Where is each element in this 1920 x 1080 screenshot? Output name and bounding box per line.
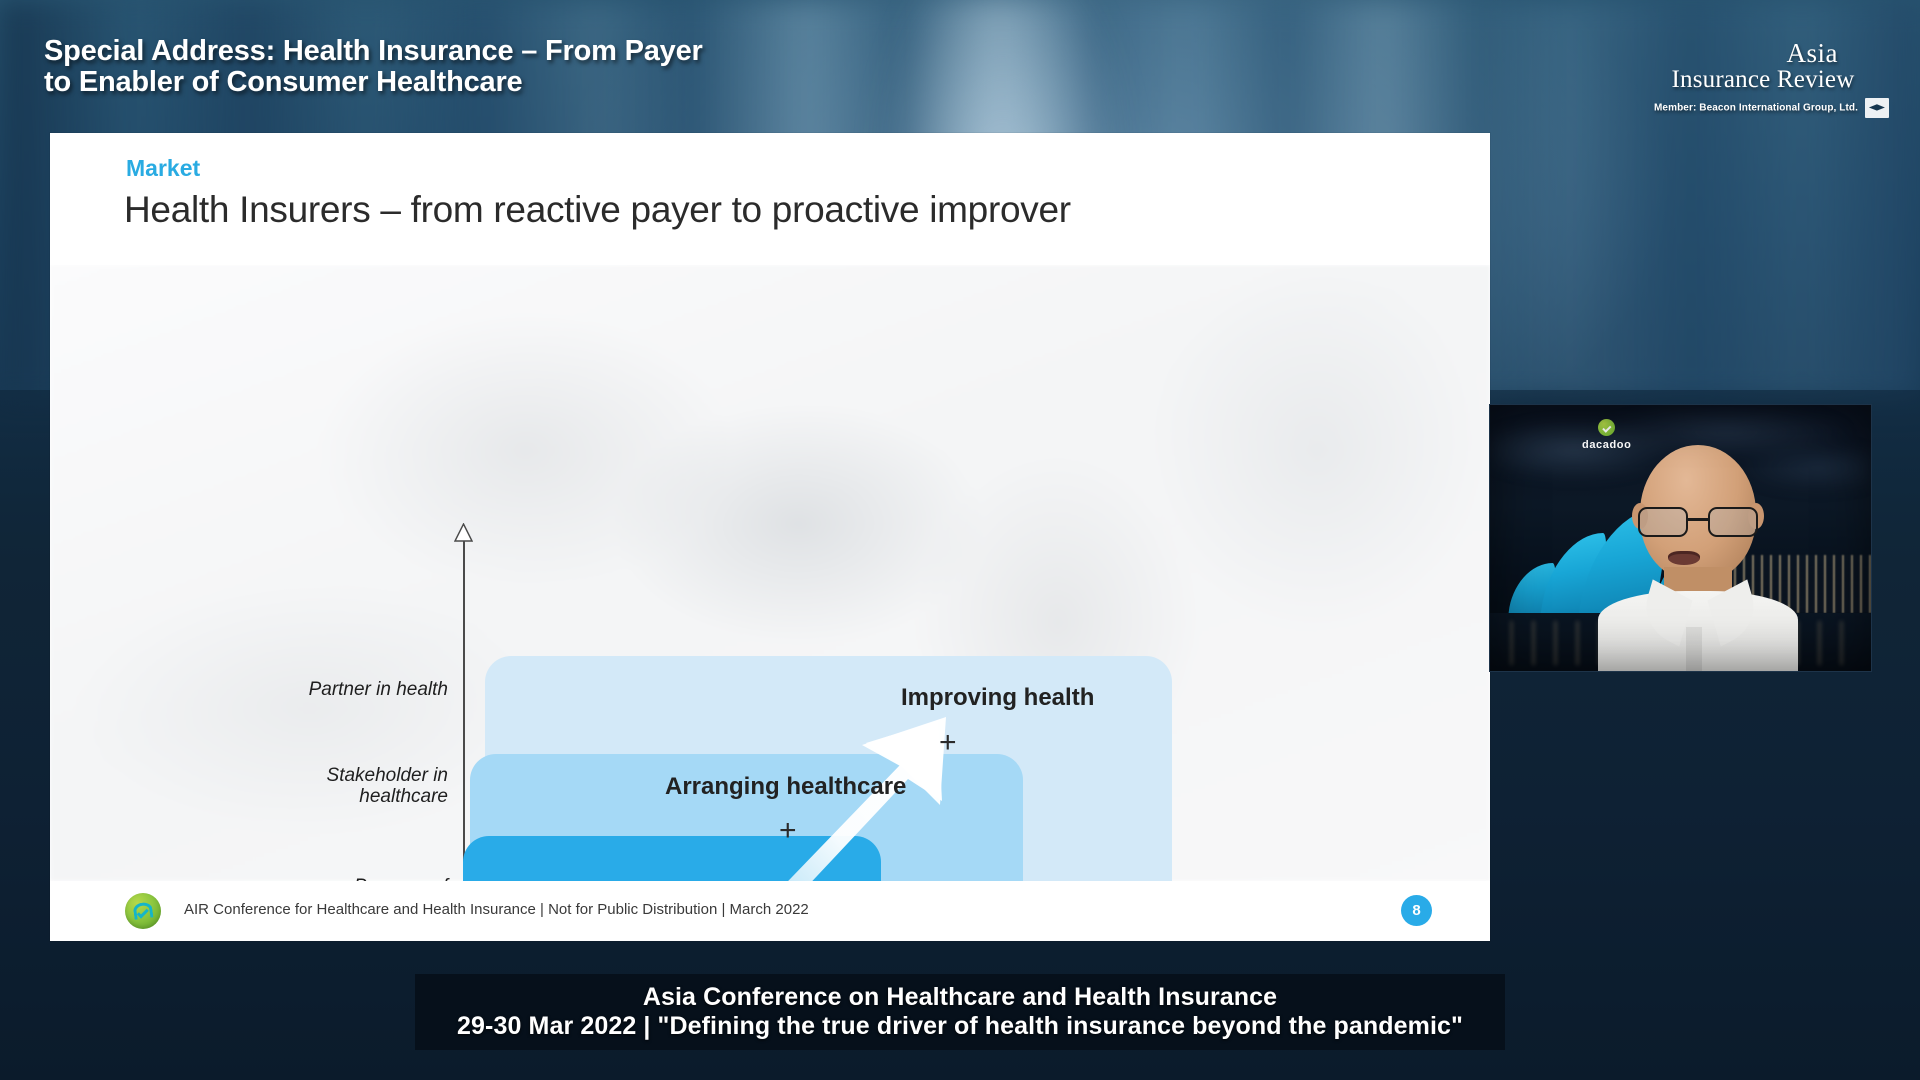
- roles-diagram: Improving health Arranging healthcare Pa…: [50, 265, 1490, 881]
- plus-connector-upper: +: [939, 728, 957, 758]
- conference-banner: Asia Conference on Healthcare and Health…: [415, 974, 1505, 1050]
- slide-kicker: Market: [126, 155, 200, 182]
- logo-member-line: Member: Beacon International Group, Ltd.: [1654, 98, 1872, 118]
- webcam-vignette: [1490, 405, 1871, 671]
- logo-member-text: Member: Beacon International Group, Ltd.: [1654, 103, 1858, 114]
- speaker-video-tile[interactable]: dacadoo: [1489, 404, 1872, 672]
- slide-footer: AIR Conference for Healthcare and Health…: [50, 881, 1490, 941]
- label-arranging-healthcare: Arranging healthcare: [665, 773, 906, 801]
- slide-footer-text: AIR Conference for Healthcare and Health…: [184, 901, 809, 918]
- event-header-title-line1: Special Address: Health Insurance – From…: [44, 35, 703, 67]
- screen: Special Address: Health Insurance – From…: [0, 0, 1920, 1080]
- beacon-logo-icon: [1865, 98, 1889, 118]
- y-axis-label-stakeholder-line2: healthcare: [198, 786, 448, 807]
- y-axis-label-stakeholder-line1: Stakeholder in: [198, 765, 448, 786]
- plus-connector-lower: +: [779, 816, 797, 846]
- y-axis-label-partner-line1: Partner in health: [198, 679, 448, 700]
- slide-header: Market Health Insurers – from reactive p…: [50, 133, 1490, 265]
- dacadoo-logo-icon: [125, 893, 161, 929]
- asia-insurance-review-logo: Asia Insurance Review Member: Beacon Int…: [1654, 40, 1872, 118]
- vertical-axis-arrow-icon: [454, 523, 473, 542]
- slide-title: Health Insurers – from reactive payer to…: [124, 189, 1071, 231]
- y-axis-label-partner-in-health: Partner in health: [198, 679, 448, 700]
- slide-page-number-badge: 8: [1401, 895, 1432, 926]
- event-header-title: Special Address: Health Insurance – From…: [44, 36, 1004, 99]
- label-improving-health: Improving health: [901, 684, 1094, 712]
- conference-banner-line1: Asia Conference on Healthcare and Health…: [643, 983, 1277, 1013]
- presentation-slide: Market Health Insurers – from reactive p…: [50, 133, 1490, 941]
- logo-line-insurance-review: Insurance Review: [1654, 67, 1872, 93]
- logo-line-asia: Asia: [1654, 40, 1872, 67]
- conference-banner-line2: 29-30 Mar 2022 | "Defining the true driv…: [457, 1012, 1463, 1042]
- y-axis-label-stakeholder: Stakeholder in healthcare: [198, 765, 448, 808]
- event-header-title-line2: to Enabler of Consumer Healthcare: [44, 67, 1004, 98]
